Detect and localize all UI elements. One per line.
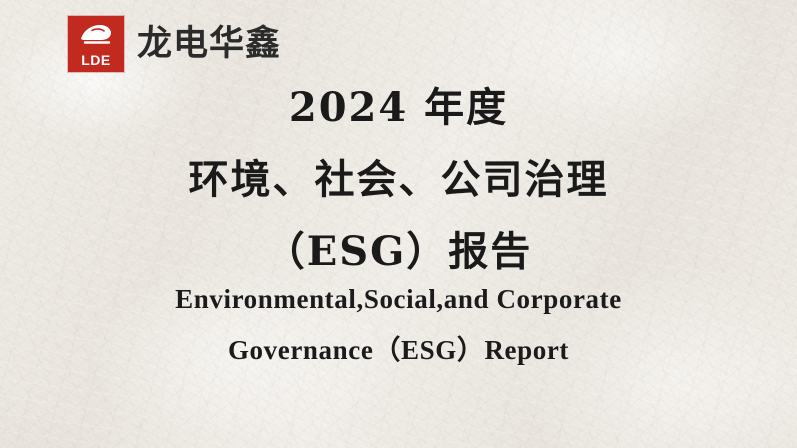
subtitle-line-1: Environmental,Social,and Corporate [0,286,797,313]
company-name: 龙电华鑫 [137,27,281,62]
stylized-iron-mark-icon [79,22,113,46]
title-block: 2024 年度 环境、社会、公司治理 （ESG）报告 Environmental… [0,88,797,364]
title-line-topic: 环境、社会、公司治理 [0,160,797,200]
company-logo: LDE 龙电华鑫 [68,16,281,72]
title-line-report: （ESG）报告 [0,232,797,272]
subtitle-line-2: Governance（ESG）Report [0,337,797,364]
logo-mark-text: LDE [81,53,111,67]
cover-page: LDE 龙电华鑫 2024 年度 环境、社会、公司治理 （ESG）报告 Envi… [0,0,797,448]
logo-mark: LDE [68,16,124,72]
title-line-year: 2024 年度 [0,88,797,128]
